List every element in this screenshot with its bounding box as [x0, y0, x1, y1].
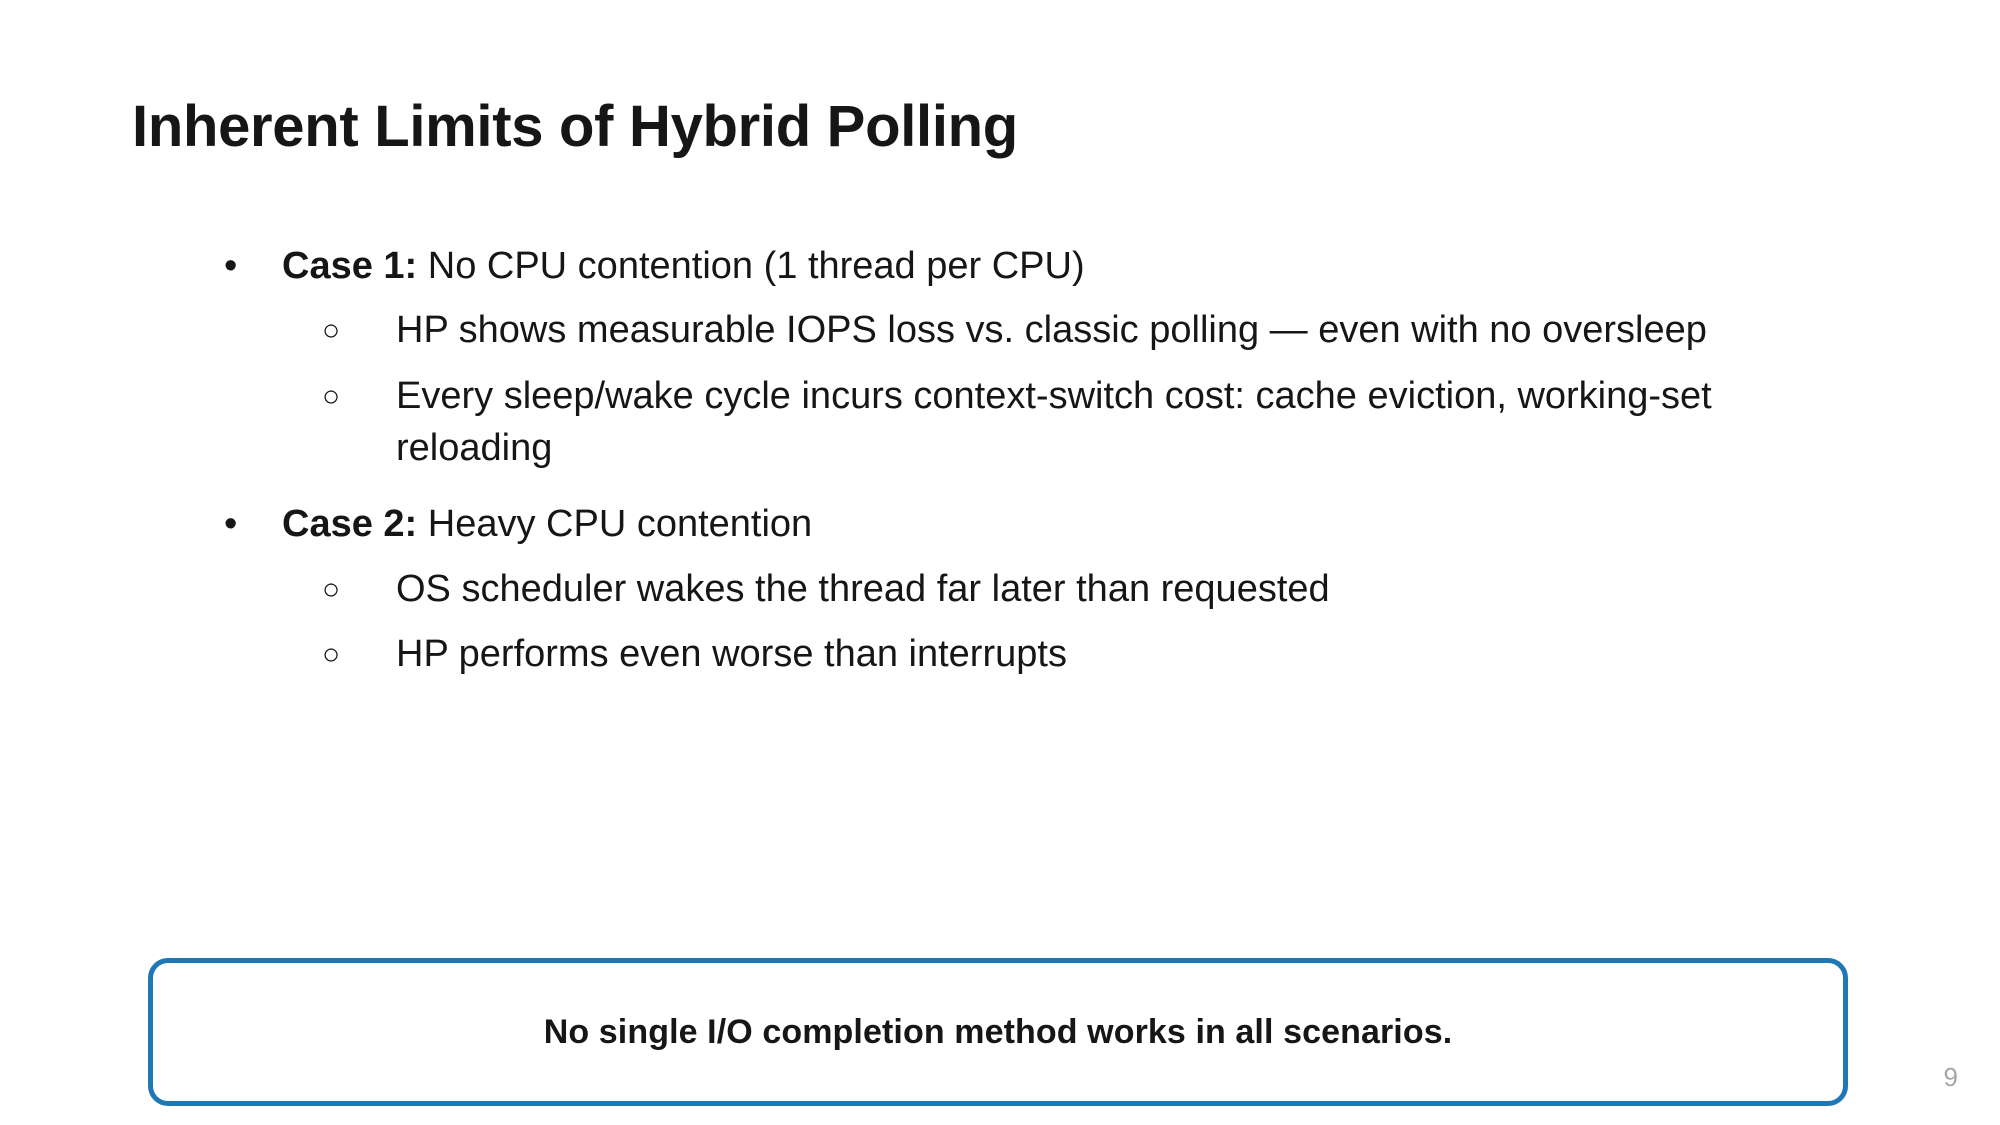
page-number: 9 [1944, 1062, 1958, 1093]
slide: Inherent Limits of Hybrid Polling • Case… [0, 0, 2000, 1125]
bullet-marker-hollow-icon: ○ [322, 371, 340, 423]
list-item-label: Every sleep/wake cycle incurs context-sw… [396, 375, 1712, 469]
list-item-label: Heavy CPU contention [417, 503, 812, 545]
bullet-marker-hollow-icon: ○ [322, 629, 340, 681]
bullet-marker-hollow-icon: ○ [322, 305, 340, 357]
list-item: ○ OS scheduler wakes the thread far late… [210, 564, 1816, 616]
list-item-label: OS scheduler wakes the thread far later … [396, 568, 1330, 610]
bullet-marker-hollow-icon: ○ [322, 564, 340, 616]
page-title: Inherent Limits of Hybrid Polling [132, 95, 1872, 160]
bullet-marker-filled-icon: • [224, 242, 237, 291]
list-item: ○ Every sleep/wake cycle incurs context-… [210, 371, 1816, 474]
list-item: ○ HP performs even worse than interrupts [210, 629, 1816, 681]
list-item-label: HP performs even worse than interrupts [396, 633, 1067, 675]
callout-box: No single I/O completion method works in… [148, 958, 1848, 1106]
bullet-list: • Case 1: No CPU contention (1 thread pe… [210, 242, 1870, 695]
callout-text: No single I/O completion method works in… [544, 1013, 1453, 1052]
group-spacer [210, 488, 1870, 500]
list-item-lead: Case 2: [282, 503, 417, 545]
list-item-lead: Case 1: [282, 245, 417, 287]
bullet-marker-filled-icon: • [224, 500, 237, 549]
list-item: • Case 1: No CPU contention (1 thread pe… [210, 242, 1870, 291]
list-item-label: HP shows measurable IOPS loss vs. classi… [396, 309, 1707, 351]
list-item-label: No CPU contention (1 thread per CPU) [417, 245, 1084, 287]
list-item: • Case 2: Heavy CPU contention [210, 500, 1870, 549]
list-item: ○ HP shows measurable IOPS loss vs. clas… [210, 305, 1816, 357]
